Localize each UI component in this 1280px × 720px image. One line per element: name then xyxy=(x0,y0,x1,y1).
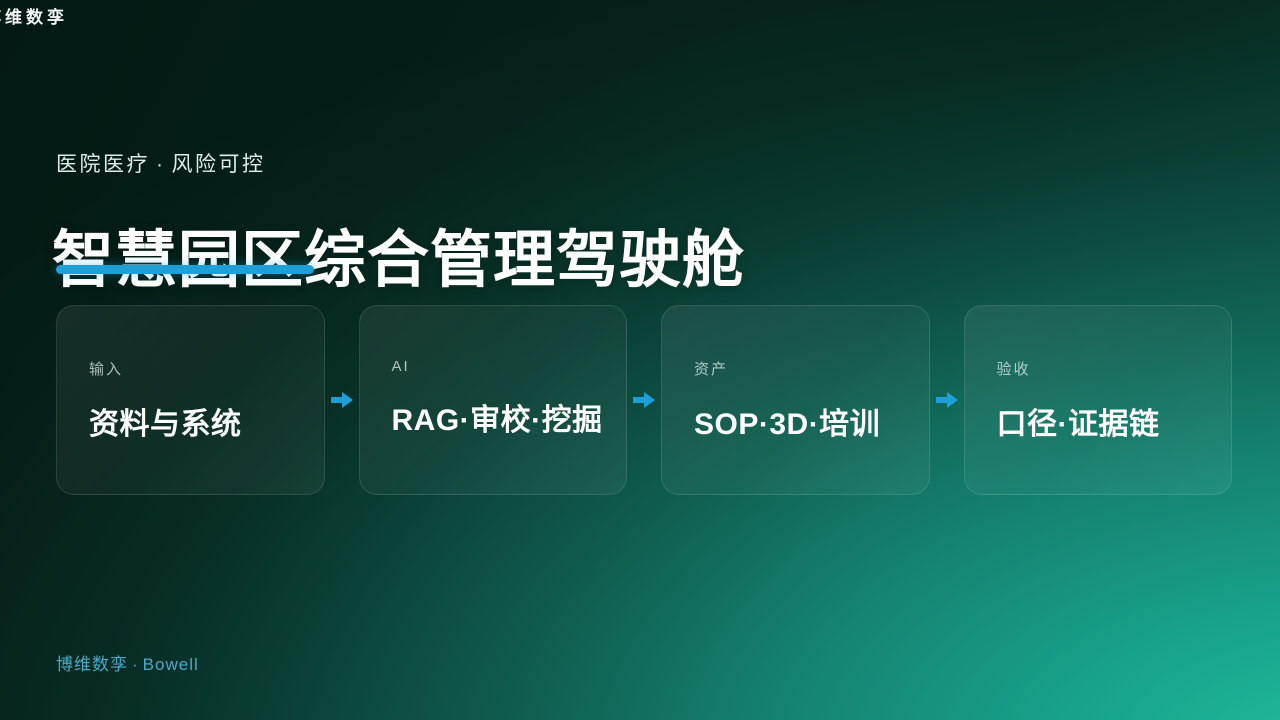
eyebrow-separator-dot: · xyxy=(150,153,172,176)
brand-logo: 博维数孪 xyxy=(0,3,68,28)
pipeline-step-label: AI xyxy=(392,358,627,375)
title-accent-bar xyxy=(56,265,314,274)
page-title: 智慧园区综合管理驾驶舱 xyxy=(52,225,745,296)
arrow-right-icon xyxy=(331,391,353,409)
pipeline-connector xyxy=(930,305,964,495)
pipeline-step-label: 验收 xyxy=(997,358,1232,379)
slide-content: 医院医疗·风险可控 智慧园区综合管理驾驶舱 输入 资料与系统 AI RAG·审校… xyxy=(56,0,1232,720)
eyebrow-left-text: 医院医疗 xyxy=(56,153,150,176)
footer-brand-en: Bowell xyxy=(143,655,199,674)
footer-brand: 博维数孪·Bowell xyxy=(56,650,199,675)
pipeline-connector xyxy=(325,305,359,495)
pipeline-flow: 输入 资料与系统 AI RAG·审校·挖掘 资产 SOP·3D·培训 xyxy=(56,305,1232,495)
pipeline-step-card[interactable]: 输入 资料与系统 xyxy=(56,305,325,495)
pipeline-step-label: 输入 xyxy=(89,358,324,379)
eyebrow-right-text: 风险可控 xyxy=(172,153,266,176)
pipeline-step-card[interactable]: 验收 口径·证据链 xyxy=(964,305,1233,495)
arrow-right-icon xyxy=(633,391,655,409)
pipeline-step-label: 资产 xyxy=(694,358,929,379)
pipeline-step-title: SOP·3D·培训 xyxy=(694,399,929,443)
pipeline-step-card[interactable]: 资产 SOP·3D·培训 xyxy=(661,305,930,495)
pipeline-step-title: 口径·证据链 xyxy=(997,399,1232,443)
footer-brand-cn: 博维数孪 xyxy=(56,655,128,674)
pipeline-step-title: RAG·审校·挖掘 xyxy=(392,395,627,439)
footer-separator-dot: · xyxy=(128,655,143,674)
slide-root: 博维数孪 医院医疗·风险可控 智慧园区综合管理驾驶舱 输入 资料与系统 AI R… xyxy=(0,0,1280,720)
eyebrow: 医院医疗·风险可控 xyxy=(56,148,266,178)
pipeline-step-card[interactable]: AI RAG·审校·挖掘 xyxy=(359,305,628,495)
arrow-right-icon xyxy=(936,391,958,409)
pipeline-step-title: 资料与系统 xyxy=(89,399,324,443)
pipeline-connector xyxy=(627,305,661,495)
